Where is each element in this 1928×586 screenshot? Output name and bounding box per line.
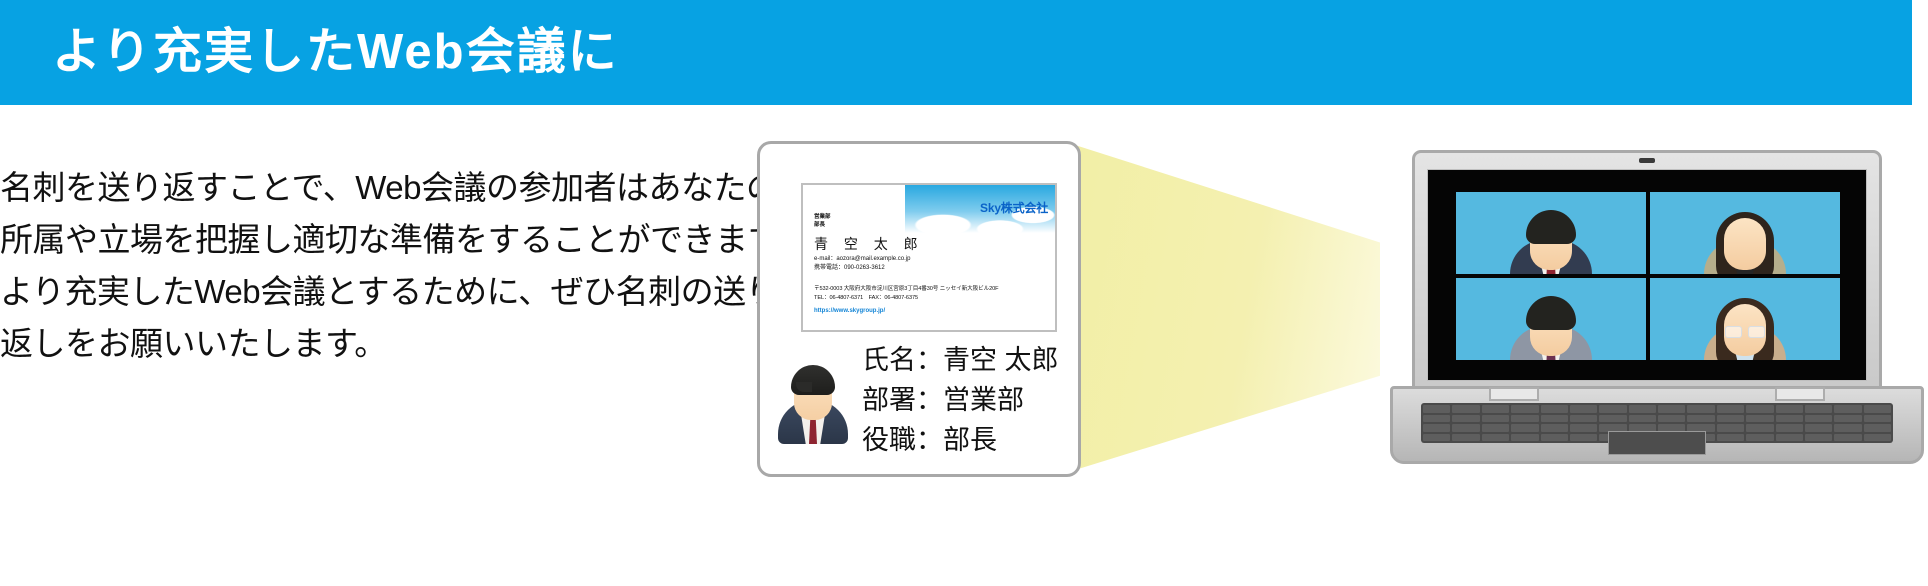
keyboard-key[interactable] [1717,434,1744,442]
video-tile[interactable] [1456,278,1646,360]
keyboard-key[interactable] [1658,405,1685,413]
video-tile[interactable] [1456,192,1646,274]
body-line: 名刺を送り返すことで、Web会議の参加者はあなたの [0,162,720,214]
keyboard-key[interactable] [1482,405,1509,413]
keyboard-key[interactable] [1423,415,1450,423]
participant-hair [1526,296,1576,330]
body-line: より充実したWeb会議とするために、ぜひ名刺の送り [0,266,720,318]
keyboard-row [1423,415,1891,423]
keyboard-key[interactable] [1687,405,1714,413]
keyboard-key[interactable] [1423,405,1450,413]
header-banner: より充実したWeb会議に [0,0,1912,105]
video-grid [1456,192,1840,360]
keyboard-key[interactable] [1629,415,1656,423]
keyboard-key[interactable] [1805,434,1832,442]
avatar-hair [791,365,835,395]
keyboard-key[interactable] [1511,434,1538,442]
person-title-line: 役職：部長 [862,420,1059,460]
card-name: 青 空 太 郎 [814,234,924,254]
keyboard-key[interactable] [1658,415,1685,423]
keyboard-key[interactable] [1452,415,1479,423]
keyboard-key[interactable] [1687,415,1714,423]
keyboard-key[interactable] [1570,405,1597,413]
page-title: より充実したWeb会議に [52,28,619,77]
keyboard-key[interactable] [1864,434,1891,442]
participant-face [1724,218,1766,270]
laptop-hinge-left [1489,387,1539,401]
business-card-panel: Sky株式会社 営業部 部長 青 空 太 郎 e-mail：aozora@mai… [757,141,1081,477]
card-tel-fax: TEL：06-4807-6371 FAX：06-4807-6375 [814,294,998,303]
webcam-icon [1639,158,1655,163]
keyboard-key[interactable] [1570,434,1597,442]
laptop [1390,140,1918,470]
laptop-screen [1427,169,1867,381]
keyboard-key[interactable] [1511,424,1538,432]
company-logo: Sky株式会社 [980,199,1048,216]
card-department: 営業部 部長 [814,213,831,229]
keyboard-key[interactable] [1570,415,1597,423]
keyboard-key[interactable] [1834,415,1861,423]
person-summary: 氏名：青空 太郎 部署：営業部 役職：部長 [774,340,1059,460]
keyboard-key[interactable] [1541,405,1568,413]
keyboard-key[interactable] [1776,415,1803,423]
laptop-base [1390,386,1924,464]
keyboard-key[interactable] [1746,405,1773,413]
glasses-icon [1725,326,1765,336]
laptop-trackpad[interactable] [1608,431,1706,455]
video-tile[interactable] [1650,278,1840,360]
laptop-lid [1412,150,1882,394]
keyboard-key[interactable] [1864,415,1891,423]
keyboard-key[interactable] [1452,405,1479,413]
card-address: 〒532-0003 大阪府大阪市淀川区宮原3丁目4番30号 ニッセイ新大阪ビル2… [814,285,998,294]
person-name-line: 氏名：青空 太郎 [862,340,1059,380]
keyboard-key[interactable] [1599,405,1626,413]
transfer-beam [1075,145,1380,470]
card-mobile: 携帯電話：090-0263-3612 [814,264,910,273]
person-info-lines: 氏名：青空 太郎 部署：営業部 役職：部長 [862,340,1059,460]
keyboard-key[interactable] [1805,424,1832,432]
keyboard-key[interactable] [1864,424,1891,432]
video-tile[interactable] [1650,192,1840,274]
keyboard-key[interactable] [1834,405,1861,413]
keyboard-row [1423,405,1891,413]
card-contact: e-mail：aozora@mail.example.co.jp 携帯電話：09… [814,255,910,273]
body-line: 返しをお願いいたします。 [0,318,720,370]
keyboard-key[interactable] [1834,434,1861,442]
card-address-block: 〒532-0003 大阪府大阪市淀川区宮原3丁目4番30号 ニッセイ新大阪ビル2… [814,285,998,303]
keyboard-key[interactable] [1717,415,1744,423]
keyboard-key[interactable] [1599,415,1626,423]
keyboard-key[interactable] [1746,424,1773,432]
keyboard-key[interactable] [1482,415,1509,423]
keyboard-key[interactable] [1452,434,1479,442]
keyboard-key[interactable] [1776,405,1803,413]
keyboard-key[interactable] [1541,415,1568,423]
laptop-hinge-right [1775,387,1825,401]
avatar [774,356,852,444]
participant-hair [1526,210,1576,244]
keyboard-key[interactable] [1864,405,1891,413]
keyboard-key[interactable] [1629,405,1656,413]
keyboard-key[interactable] [1511,405,1538,413]
card-url[interactable]: https://www.skygroup.jp/ [814,308,885,314]
body-copy: 名刺を送り返すことで、Web会議の参加者はあなたの 所属や立場を把握し適切な準備… [0,162,720,370]
body-line: 所属や立場を把握し適切な準備をすることができます。 [0,214,720,266]
keyboard-key[interactable] [1834,424,1861,432]
business-card: Sky株式会社 営業部 部長 青 空 太 郎 e-mail：aozora@mai… [801,183,1057,332]
keyboard-key[interactable] [1423,424,1450,432]
keyboard-key[interactable] [1452,424,1479,432]
keyboard-key[interactable] [1746,434,1773,442]
keyboard-key[interactable] [1423,434,1450,442]
card-department-line: 営業部 [814,213,831,221]
keyboard-key[interactable] [1482,434,1509,442]
keyboard-key[interactable] [1776,434,1803,442]
keyboard-key[interactable] [1805,405,1832,413]
keyboard-key[interactable] [1541,434,1568,442]
keyboard-key[interactable] [1776,424,1803,432]
person-dept-line: 部署：営業部 [862,380,1059,420]
keyboard-key[interactable] [1717,424,1744,432]
card-title-line: 部長 [814,221,831,229]
keyboard-key[interactable] [1717,405,1744,413]
card-email: e-mail：aozora@mail.example.co.jp [814,255,910,264]
keyboard-key[interactable] [1482,424,1509,432]
keyboard-key[interactable] [1570,424,1597,432]
keyboard-key[interactable] [1805,415,1832,423]
keyboard-key[interactable] [1511,415,1538,423]
keyboard-key[interactable] [1541,424,1568,432]
keyboard-key[interactable] [1746,415,1773,423]
